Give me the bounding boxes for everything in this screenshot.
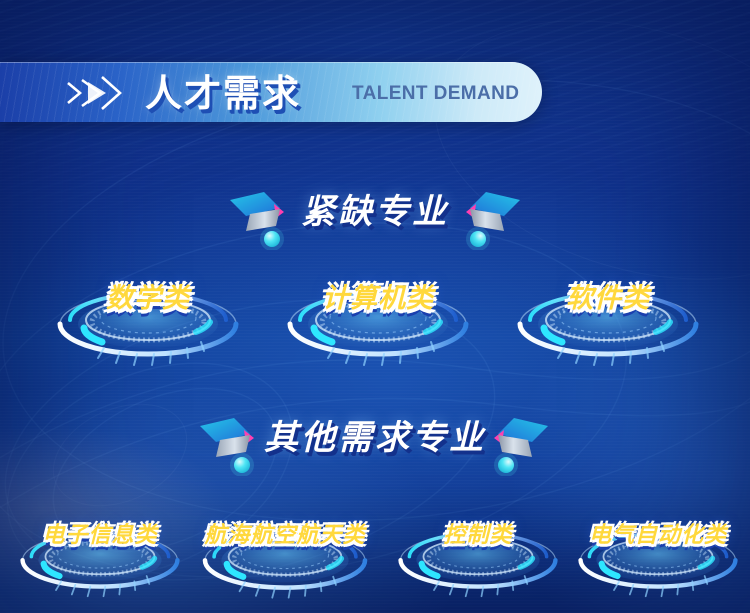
badge-label: 数学类 <box>48 276 248 315</box>
badge-label: 控制类 <box>390 517 566 549</box>
badge-label: 电子信息类 <box>12 517 188 549</box>
section-heading-other-demand-majors: 其他需求专业 <box>130 404 620 476</box>
parallelogram-pair-right-icon <box>478 408 550 476</box>
badge-label: 航海航空航天类 <box>190 517 380 549</box>
page-title-banner: 人才需求 TALENT DEMAND <box>0 62 542 122</box>
banner-title-en: TALENT DEMAND <box>352 83 519 105</box>
badge-label: 计算机类 <box>278 276 478 315</box>
badge-label: 电气自动化类 <box>570 517 746 549</box>
banner-title-cn: 人才需求 <box>145 68 301 120</box>
double-chevron-right-icon <box>66 76 156 110</box>
badge-label: 软件类 <box>508 276 708 315</box>
section-heading-label: 紧缺专业 <box>150 184 600 233</box>
poster-canvas: 人才需求 TALENT DEMAND <box>0 0 750 613</box>
parallelogram-pair-right-icon <box>450 182 522 250</box>
section-heading-scarce-majors: 紧缺专业 <box>150 178 600 250</box>
